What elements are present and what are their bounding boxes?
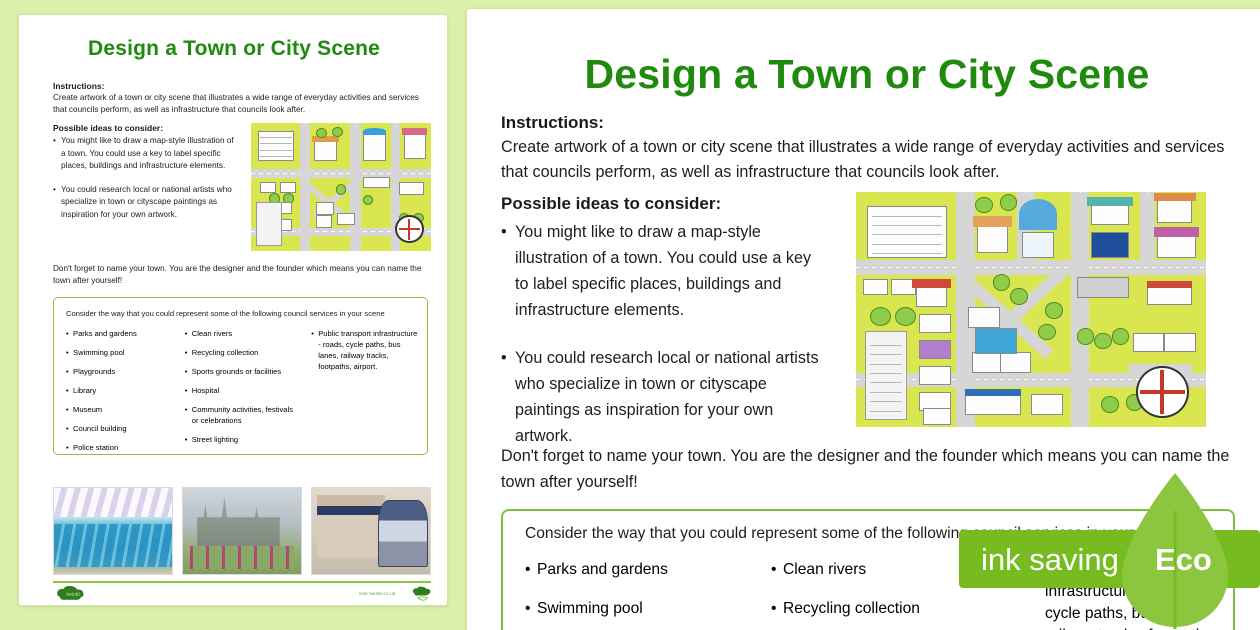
ideas-list-large: • You might like to draw a map-style ill…	[501, 219, 821, 471]
ideas-item-2: You could research local or national art…	[515, 345, 821, 449]
service-item: Recycling collection	[192, 347, 301, 358]
ideas-heading-large: Possible ideas to consider:	[501, 194, 721, 214]
service-item: Parks and gardens	[537, 559, 757, 581]
list-item: •Museum	[66, 404, 175, 415]
list-item: •Clean rivers	[185, 328, 301, 339]
bullet-glyph: •	[185, 404, 192, 426]
list-item: •Council building	[66, 423, 175, 434]
list-item: • You might like to draw a map-style ill…	[53, 135, 238, 173]
bullet-glyph: •	[771, 559, 783, 581]
services-column-2: •Clean rivers •Recycling collection •Spo…	[185, 328, 301, 461]
list-item: •Parks and gardens	[66, 328, 175, 339]
bullet-glyph: •	[66, 385, 73, 396]
list-item: •Playgrounds	[66, 366, 175, 377]
footer-url[interactable]: visit twinkl.co.uk	[359, 591, 396, 596]
instructions-heading: Instructions:	[53, 81, 104, 91]
town-map-illustration-large	[856, 192, 1206, 427]
list-item: •Hospital	[185, 385, 301, 396]
swimming-pool-photo	[53, 487, 173, 575]
bullet-glyph: •	[66, 366, 73, 377]
bullet-glyph: •	[66, 404, 73, 415]
services-column-3: •Public transport infrastructure - roads…	[311, 328, 418, 461]
list-item: •Police station	[66, 442, 175, 453]
list-item: •Swimming pool	[525, 598, 757, 620]
service-item: Hospital	[192, 385, 301, 396]
ideas-list: • You might like to draw a map-style ill…	[53, 135, 238, 232]
ideas-item-1: You might like to draw a map-style illus…	[61, 135, 238, 173]
bullet-glyph: •	[53, 135, 61, 173]
service-item: Community activities, festivals or celeb…	[192, 404, 301, 426]
ink-saving-eco-badge: ink saving Eco	[959, 471, 1260, 630]
bullet-glyph: •	[525, 598, 537, 620]
service-item: Swimming pool	[537, 598, 757, 620]
service-item: Swimming pool	[73, 347, 175, 358]
bullet-glyph: •	[311, 328, 318, 372]
service-item: Council building	[73, 423, 175, 434]
ideas-item-2: You could research local or national art…	[61, 184, 238, 222]
service-item: Clean rivers	[192, 328, 301, 339]
service-item: Street lighting	[192, 434, 301, 445]
bullet-glyph: •	[185, 328, 192, 339]
bullet-glyph: •	[771, 598, 783, 620]
service-item: Library	[73, 385, 175, 396]
page-title: Design a Town or City Scene	[19, 37, 448, 61]
bullet-glyph: •	[185, 347, 192, 358]
list-item: •Sports grounds or facilities	[185, 366, 301, 377]
service-item: Parks and gardens	[73, 328, 175, 339]
eco-badge-leaf-text: Eco	[1155, 531, 1212, 589]
instructions-body-large: Create artwork of a town or city scene t…	[501, 135, 1227, 185]
photo-strip	[53, 487, 431, 575]
services-column-1-large: •Parks and gardens •Swimming pool •Playg…	[525, 559, 757, 630]
screenshot-canvas: Design a Town or City Scene Instructions…	[0, 0, 1260, 630]
twinkl-logo-small[interactable]	[411, 585, 433, 605]
list-item: •Swimming pool	[66, 347, 175, 358]
services-box: Consider the way that you could represen…	[53, 297, 428, 455]
bullet-glyph: •	[501, 345, 515, 449]
bullet-glyph: •	[66, 423, 73, 434]
ideas-item-1: You might like to draw a map-style illus…	[515, 219, 821, 323]
page-title-large: Design a Town or City Scene	[467, 51, 1260, 98]
service-item: Sports grounds or facilities	[192, 366, 301, 377]
instructions-body: Create artwork of a town or city scene t…	[53, 92, 425, 116]
list-item: • You might like to draw a map-style ill…	[501, 219, 821, 323]
bullet-glyph: •	[185, 385, 192, 396]
bullet-glyph: •	[66, 347, 73, 358]
bullet-glyph: •	[185, 366, 192, 377]
eco-badge-text: ink saving	[981, 531, 1119, 589]
svg-text:twinkl: twinkl	[66, 592, 79, 598]
list-item: • You could research local or national a…	[501, 345, 821, 449]
worksheet-page-thumbnail[interactable]: Design a Town or City Scene Instructions…	[18, 14, 448, 606]
services-lead-in: Consider the way that you could represen…	[66, 309, 385, 318]
town-map-illustration	[251, 123, 431, 251]
twinkl-logo[interactable]: twinkl	[55, 586, 91, 604]
list-item: •Parks and gardens	[525, 559, 757, 581]
instructions-heading-large: Instructions:	[501, 113, 604, 133]
footer-divider	[53, 581, 431, 583]
list-item: •Recycling collection	[185, 347, 301, 358]
list-item: •Public transport infrastructure - roads…	[311, 328, 418, 372]
bullet-glyph: •	[53, 184, 61, 222]
service-item: Museum	[73, 404, 175, 415]
service-item: Police station	[73, 442, 175, 453]
list-item: •Street lighting	[185, 434, 301, 445]
town-square-photo	[182, 487, 302, 575]
bullet-glyph: •	[66, 328, 73, 339]
bullet-glyph: •	[525, 559, 537, 581]
services-columns: •Parks and gardens •Swimming pool •Playg…	[66, 328, 418, 461]
bullet-glyph: •	[185, 434, 192, 445]
train-station-photo	[311, 487, 431, 575]
list-item: •Library	[66, 385, 175, 396]
bullet-glyph: •	[501, 219, 515, 323]
closing-note: Don't forget to name your town. You are …	[53, 263, 425, 287]
bullet-glyph: •	[66, 442, 73, 453]
list-item: •Community activities, festivals or cele…	[185, 404, 301, 426]
services-column-1: •Parks and gardens •Swimming pool •Playg…	[66, 328, 175, 461]
ideas-heading: Possible ideas to consider:	[53, 123, 163, 133]
list-item: • You could research local or national a…	[53, 184, 238, 222]
service-item: Public transport infrastructure - roads,…	[318, 328, 418, 372]
service-item: Playgrounds	[73, 366, 175, 377]
